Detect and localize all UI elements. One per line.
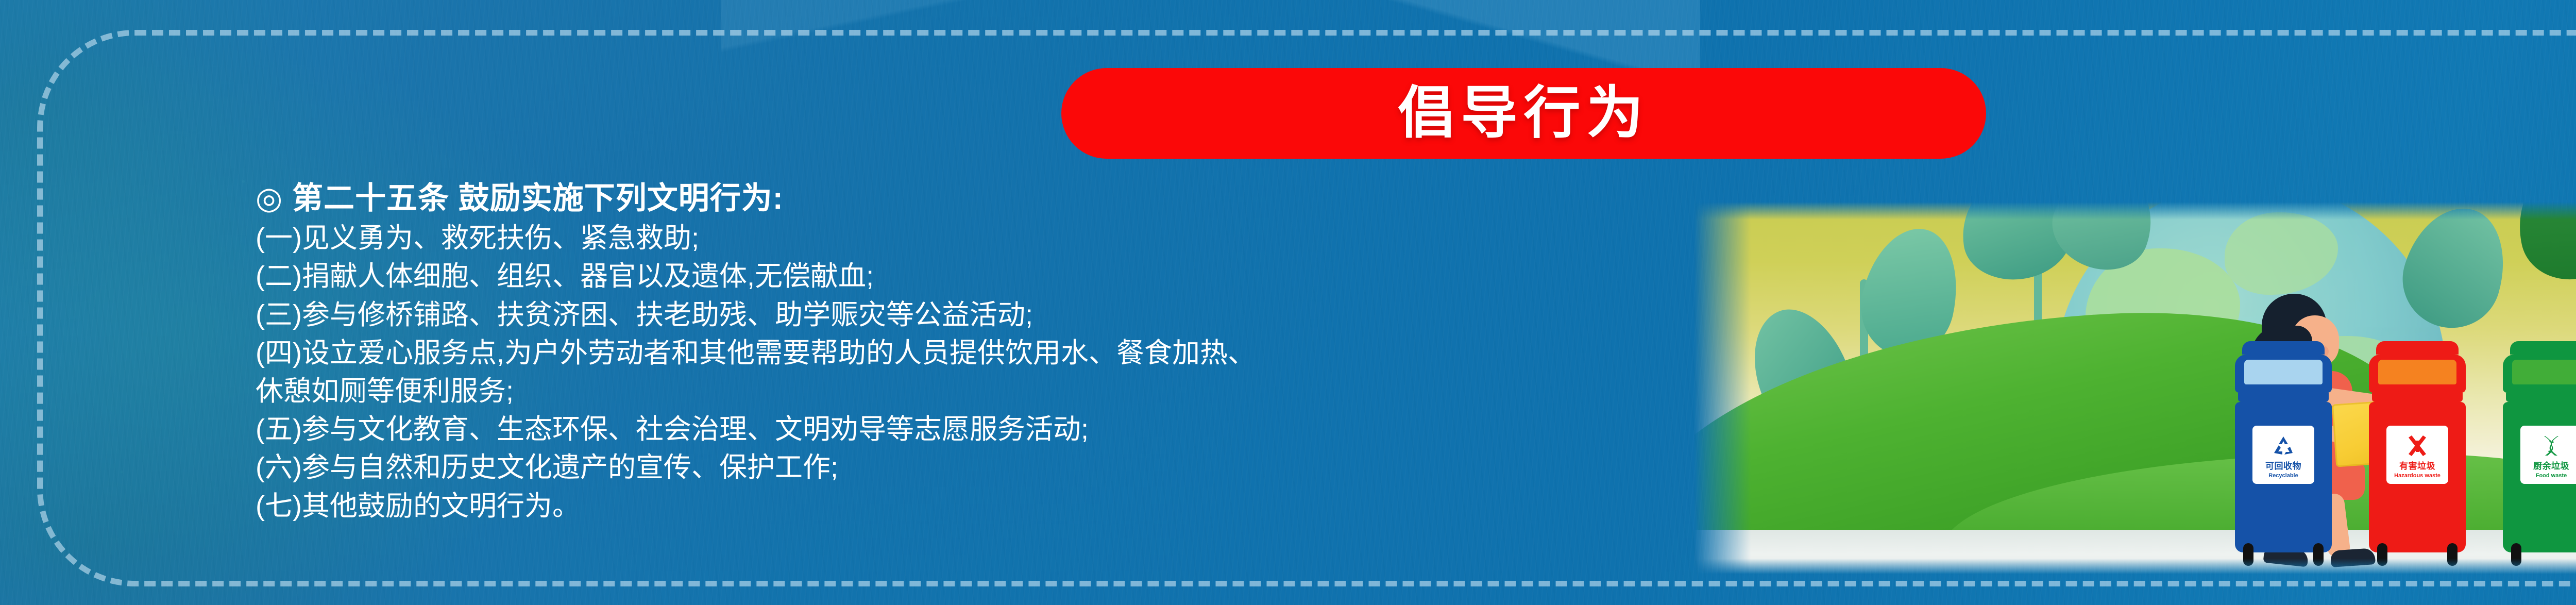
bin-en-hazardous: Hazardous waste bbox=[2389, 473, 2445, 479]
bin-en-food-waste: Food waste bbox=[2523, 473, 2576, 479]
bin-food-waste: 厨余垃圾 Food waste bbox=[2503, 341, 2576, 552]
bin-label-food-waste: 厨余垃圾 Food waste bbox=[2520, 426, 2576, 484]
recycle-triangle-icon bbox=[2256, 432, 2311, 460]
clause-heading: ◎ 第二十五条 鼓励实施下列文明行为: bbox=[256, 179, 1708, 217]
bin-cn-recyclable: 可回收物 bbox=[2256, 462, 2311, 472]
bin-recyclable: 可回收物 Recyclable bbox=[2235, 341, 2332, 552]
bin-cn-food-waste: 厨余垃圾 bbox=[2523, 462, 2576, 472]
clause-item-1: (一)见义勇为、救死扶伤、紧急救助; bbox=[256, 220, 1708, 256]
clause-item-5: (五)参与文化教育、生态环保、社会治理、文明劝导等志愿服务活动; bbox=[256, 411, 1708, 447]
clause-item-6: (六)参与自然和历史文化遗产的宣传、保护工作; bbox=[256, 449, 1708, 485]
poster-root: 倡导行为 ◎ 第二十五条 鼓励实施下列文明行为: (一)见义勇为、救死扶伤、紧急… bbox=[0, 0, 2576, 605]
bin-cn-hazardous: 有害垃圾 bbox=[2389, 462, 2445, 472]
bin-hazardous: 有害垃圾 Hazardous waste bbox=[2369, 341, 2466, 552]
hazard-cross-icon bbox=[2389, 432, 2445, 460]
clause-text-block: ◎ 第二十五条 鼓励实施下列文明行为: (一)见义勇为、救死扶伤、紧急救助; (… bbox=[256, 179, 1708, 524]
title-text: 倡导行为 bbox=[1398, 85, 1650, 142]
bin-en-recyclable: Recyclable bbox=[2256, 473, 2311, 479]
clause-item-4: (四)设立爱心服务点,为户外劳动者和其他需要帮助的人员提供饮用水、餐食加热、 bbox=[256, 335, 1708, 371]
illustration-panel: 可回收物 Recyclable bbox=[1694, 202, 2576, 574]
clause-item-2: (二)捐献人体细胞、组织、器官以及遗体,无偿献血; bbox=[256, 258, 1708, 294]
clause-item-3: (三)参与修桥铺路、扶贫济困、扶老助残、助学赈灾等公益活动; bbox=[256, 297, 1708, 333]
bin-label-hazardous: 有害垃圾 Hazardous waste bbox=[2386, 426, 2448, 484]
hourglass-food-icon bbox=[2523, 432, 2576, 460]
title-banner: 倡导行为 bbox=[1061, 68, 1986, 159]
clause-item-7: (七)其他鼓励的文明行为。 bbox=[256, 488, 1708, 524]
clause-item-4-cont: 休憩如厕等便利服务; bbox=[256, 373, 1708, 409]
bin-label-recyclable: 可回收物 Recyclable bbox=[2252, 426, 2314, 484]
